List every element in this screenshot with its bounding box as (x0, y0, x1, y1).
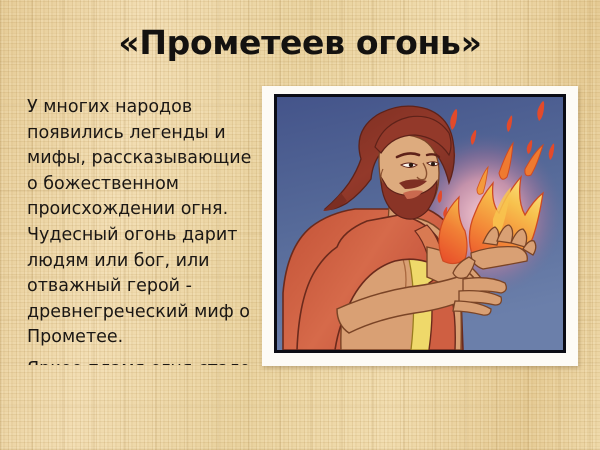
body-line: древнегреческий миф о (27, 300, 273, 326)
body-line: У многих народов (27, 95, 273, 121)
slide-canvas: «Прометеев огонь» У многих народов появи… (0, 0, 600, 450)
body-line: происхождении огня. (27, 197, 273, 223)
pupil-left (409, 163, 413, 167)
body-line: Чудесный огонь дарит (27, 223, 273, 249)
body-text-block: У многих народов появились легенды и миф… (27, 95, 273, 365)
body-line: Прометее. (27, 325, 273, 351)
page-title: «Прометеев огонь» (0, 26, 600, 59)
body-line: о божественном (27, 172, 273, 198)
body-line: появились легенды и (27, 121, 273, 147)
body-line: мифы, рассказывающие (27, 146, 273, 172)
pupil-right (431, 162, 435, 166)
prometheus-illustration (277, 97, 563, 350)
body-line: людям или бог, или (27, 249, 273, 275)
picture-inner-border (274, 94, 566, 353)
body-line: отважный герой - (27, 274, 273, 300)
picture-frame (262, 86, 578, 366)
body-line: Яркое пламя огня стало (27, 357, 273, 365)
